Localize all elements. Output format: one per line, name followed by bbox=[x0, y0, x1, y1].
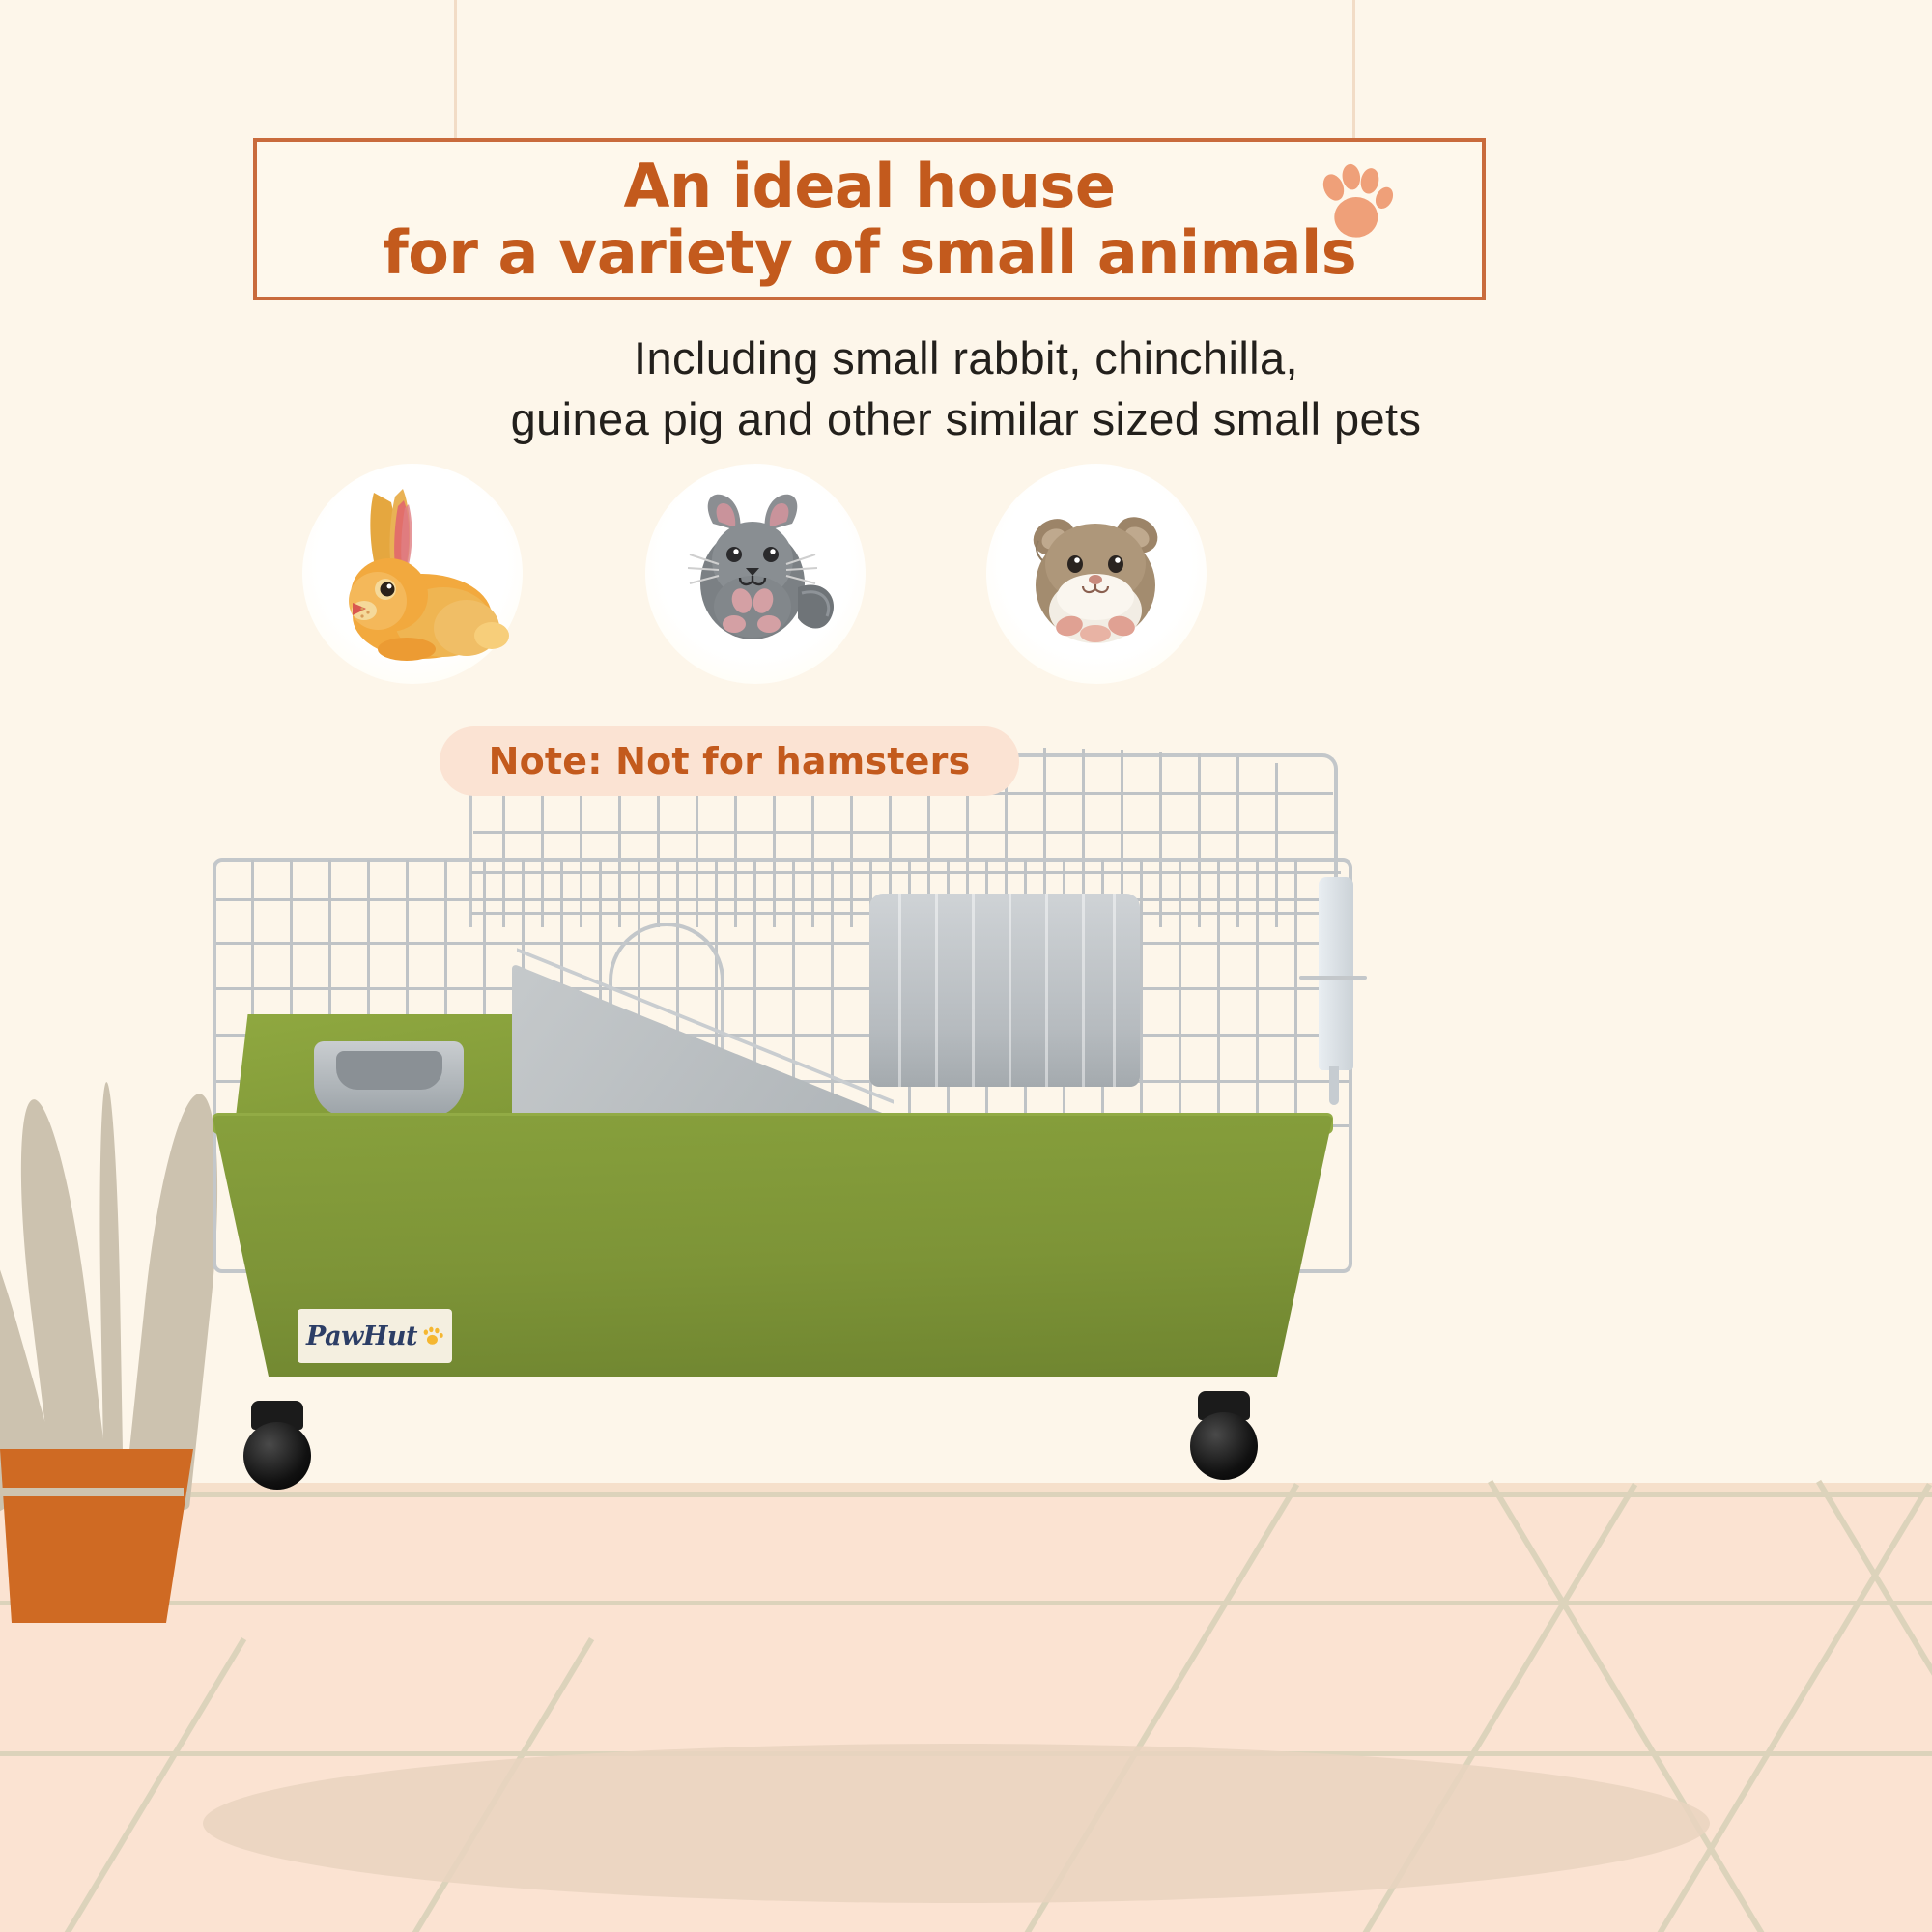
note-badge: Note: Not for hamsters bbox=[440, 726, 1019, 796]
headline-box: An ideal house for a variety of small an… bbox=[253, 138, 1486, 300]
paw-print-icon bbox=[422, 1326, 443, 1346]
water-bottle-hook bbox=[1299, 976, 1367, 980]
water-bottle-spout bbox=[1329, 1066, 1339, 1105]
page-title: An ideal house for a variety of small an… bbox=[383, 153, 1356, 287]
plant-pot-rim bbox=[0, 1488, 184, 1496]
chinchilla-icon bbox=[645, 464, 866, 684]
brand-logo: PawHut bbox=[298, 1309, 452, 1363]
subtitle-line-2: guinea pig and other similar sized small… bbox=[0, 389, 1932, 450]
headline-line-1: An ideal house bbox=[624, 151, 1116, 221]
guinea-pig-icon bbox=[986, 464, 1207, 684]
brand-logo-text: PawHut bbox=[306, 1321, 417, 1351]
subtitle: Including small rabbit, chinchilla, guin… bbox=[0, 328, 1932, 450]
paw-print-icon bbox=[1314, 163, 1397, 241]
plant-pot bbox=[0, 1449, 193, 1623]
note-badge-label: Note: Not for hamsters bbox=[489, 740, 971, 782]
metal-food-bowl-inner bbox=[336, 1051, 442, 1090]
caster-wheel bbox=[1190, 1412, 1258, 1480]
plastic-hideaway-hut bbox=[869, 894, 1140, 1087]
water-bottle bbox=[1319, 877, 1353, 1070]
headline-line-2: for a variety of small animals bbox=[383, 217, 1356, 288]
product-cage: PawHut bbox=[193, 734, 1777, 1806]
caster-wheel bbox=[243, 1422, 311, 1490]
animal-icon-row bbox=[0, 464, 1932, 686]
rabbit-icon bbox=[302, 464, 523, 684]
subtitle-line-1: Including small rabbit, chinchilla, bbox=[0, 328, 1932, 389]
floor-tile-diagonal bbox=[1816, 1480, 1932, 1932]
